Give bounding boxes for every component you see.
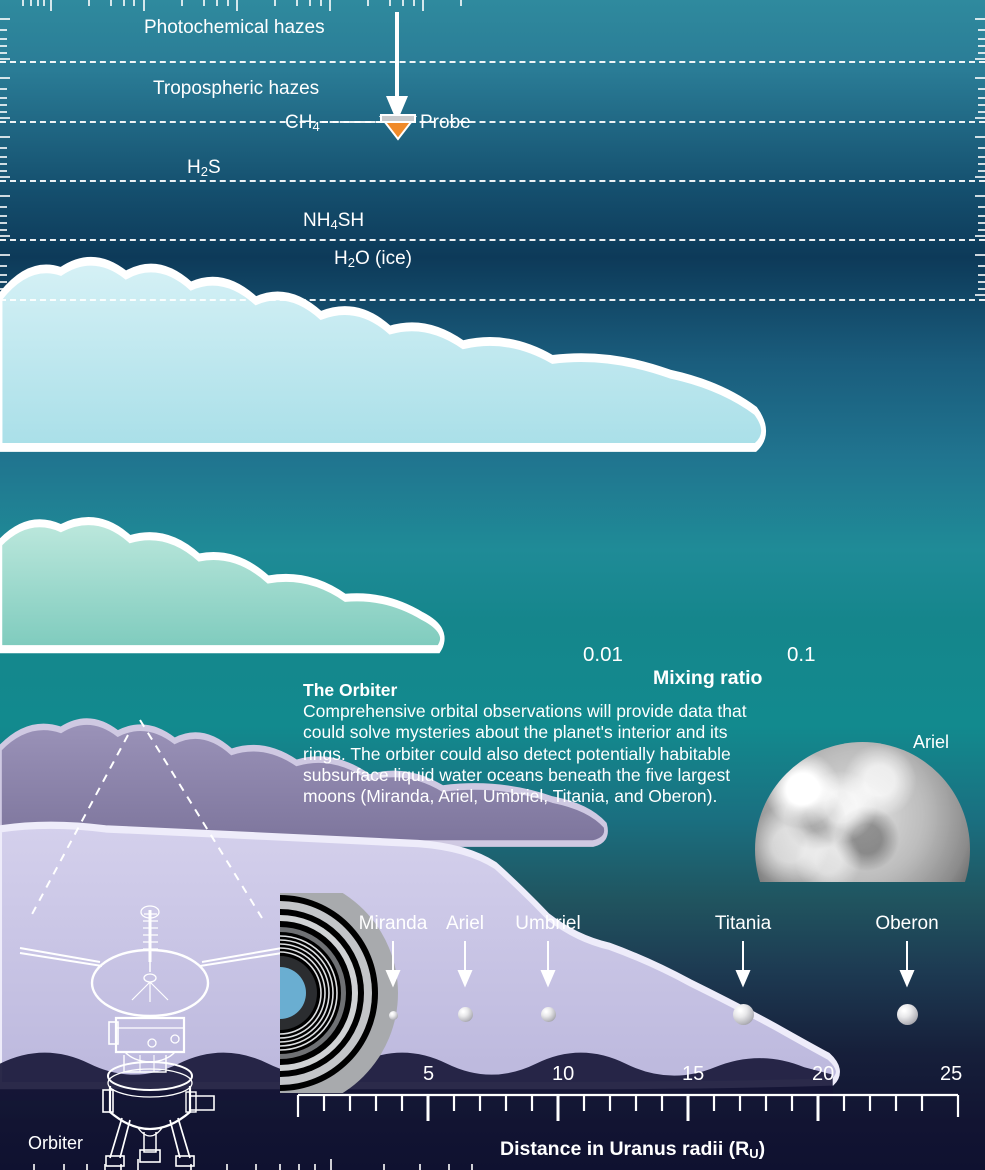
ruler-tick-label-5: 5 xyxy=(423,1063,434,1086)
label-nh4sh: NH4SH xyxy=(303,210,364,232)
moon-dot-miranda xyxy=(389,1011,398,1020)
moon-label-titania: Titania xyxy=(693,913,793,935)
ch4-cloud-shape xyxy=(0,261,764,447)
moon-label-oberon: Oberon xyxy=(857,913,957,935)
gridline-1 xyxy=(0,121,985,123)
moon-dot-umbriel xyxy=(541,1007,556,1022)
ruler-tick-label-15: 15 xyxy=(682,1063,704,1086)
distance-axis-title-main: Distance in Uranus radii (R xyxy=(500,1138,749,1160)
moon-dot-titania xyxy=(733,1004,754,1025)
label-photochemical-hazes: Photochemical hazes xyxy=(144,17,325,39)
orbiter-panel-body: Comprehensive orbital observations will … xyxy=(303,701,753,808)
orbiter-craft-label: Orbiter xyxy=(28,1133,83,1154)
gridline-100 xyxy=(0,239,985,241)
distance-ruler xyxy=(290,1091,985,1131)
moons-distance-diagram: Miranda Ariel Umbriel Titania Oberon 5 1… xyxy=(290,895,985,1170)
ariel-moon-photo xyxy=(755,742,970,882)
moon-label-ariel: Ariel xyxy=(420,913,510,935)
x-tick-0: 0.01 xyxy=(583,643,623,667)
gridline-10 xyxy=(0,180,985,182)
probe-dashed-connector xyxy=(322,121,382,123)
distance-axis-title-sub: U xyxy=(749,1146,758,1161)
moon-label-umbriel: Umbriel xyxy=(498,913,598,935)
gridline-0.1 xyxy=(0,61,985,63)
probe-marker-icon xyxy=(379,113,417,141)
moon-dot-oberon xyxy=(897,1004,918,1025)
x-tick-1: 0.1 xyxy=(787,643,816,667)
gridline-1000 xyxy=(0,299,985,301)
moon-dot-ariel xyxy=(458,1007,473,1022)
distance-axis-title: Distance in Uranus radii (RU) xyxy=(500,1138,765,1161)
probe-marker-label: Probe xyxy=(420,112,471,134)
label-ch4: CH4 xyxy=(285,112,320,134)
ruler-tick-label-25: 25 xyxy=(940,1063,962,1086)
label-h2s: H2S xyxy=(187,157,221,179)
distance-axis-title-end: ) xyxy=(759,1138,766,1160)
orbiter-info-panel: The Orbiter Comprehensive orbital observ… xyxy=(303,680,753,808)
label-tropospheric-hazes: Tropospheric hazes xyxy=(153,78,319,100)
orbiter-spacecraft-illustration xyxy=(0,900,300,1170)
moon-pointer-arrows xyxy=(290,935,985,995)
uranus-cloud-structure-chart: Photochemical hazes Tropospheric hazes C… xyxy=(0,0,485,319)
ruler-tick-label-10: 10 xyxy=(552,1063,574,1086)
label-h2o-ice: H2O (ice) xyxy=(334,248,412,270)
h2s-cloud-shape xyxy=(0,521,442,649)
orbiter-panel-heading: The Orbiter xyxy=(303,680,753,701)
ariel-photo-label: Ariel xyxy=(913,732,949,753)
ruler-tick-label-20: 20 xyxy=(812,1063,834,1086)
